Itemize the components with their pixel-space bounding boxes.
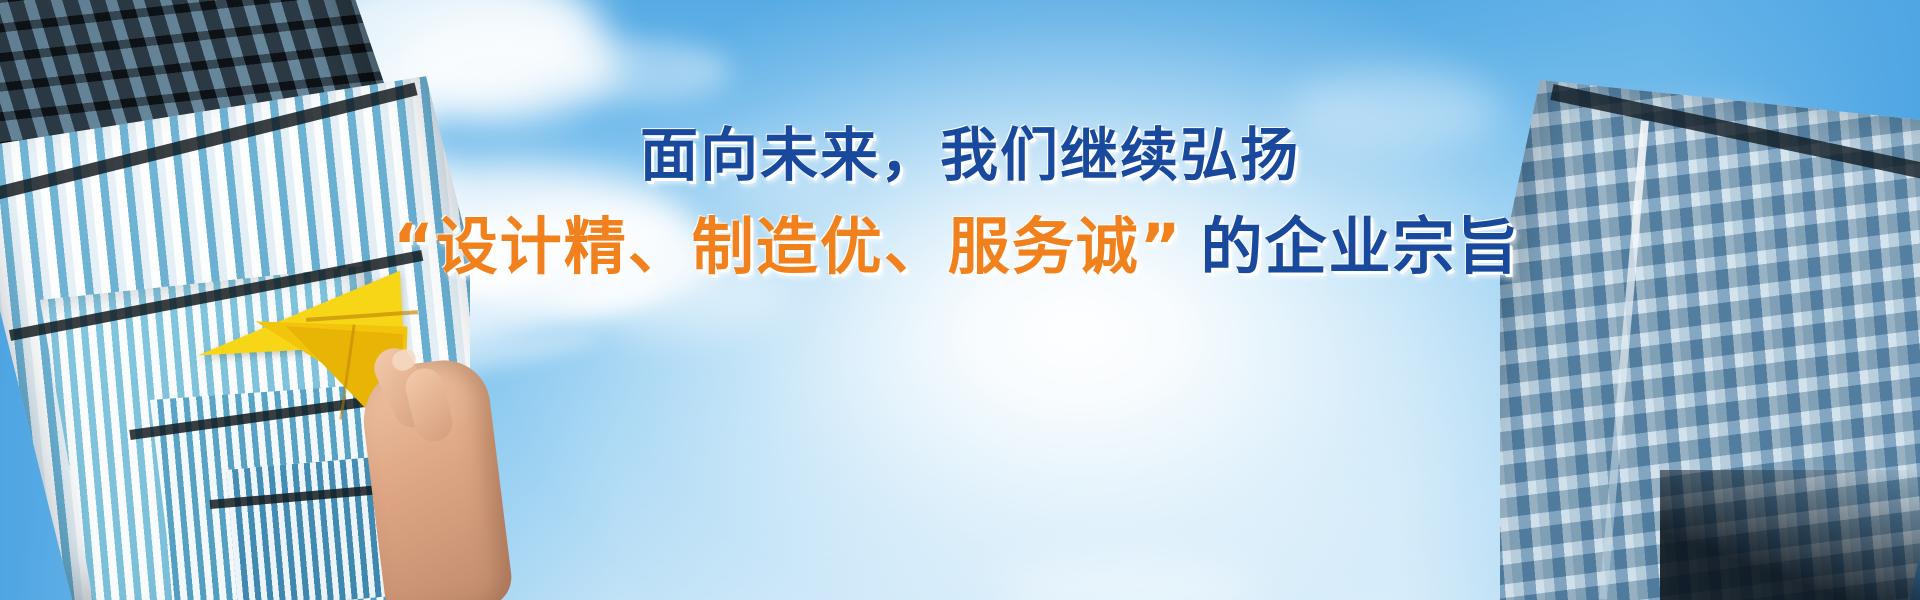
paper-plane-and-hand <box>196 268 496 600</box>
corporate-hero-banner: 面向未来，我们继续弘扬 “设计精、制造优、服务诚”的企业宗旨 <box>0 0 1920 600</box>
right-glass-tower-photo <box>1500 0 1920 600</box>
tower-shadow <box>1660 470 1920 600</box>
